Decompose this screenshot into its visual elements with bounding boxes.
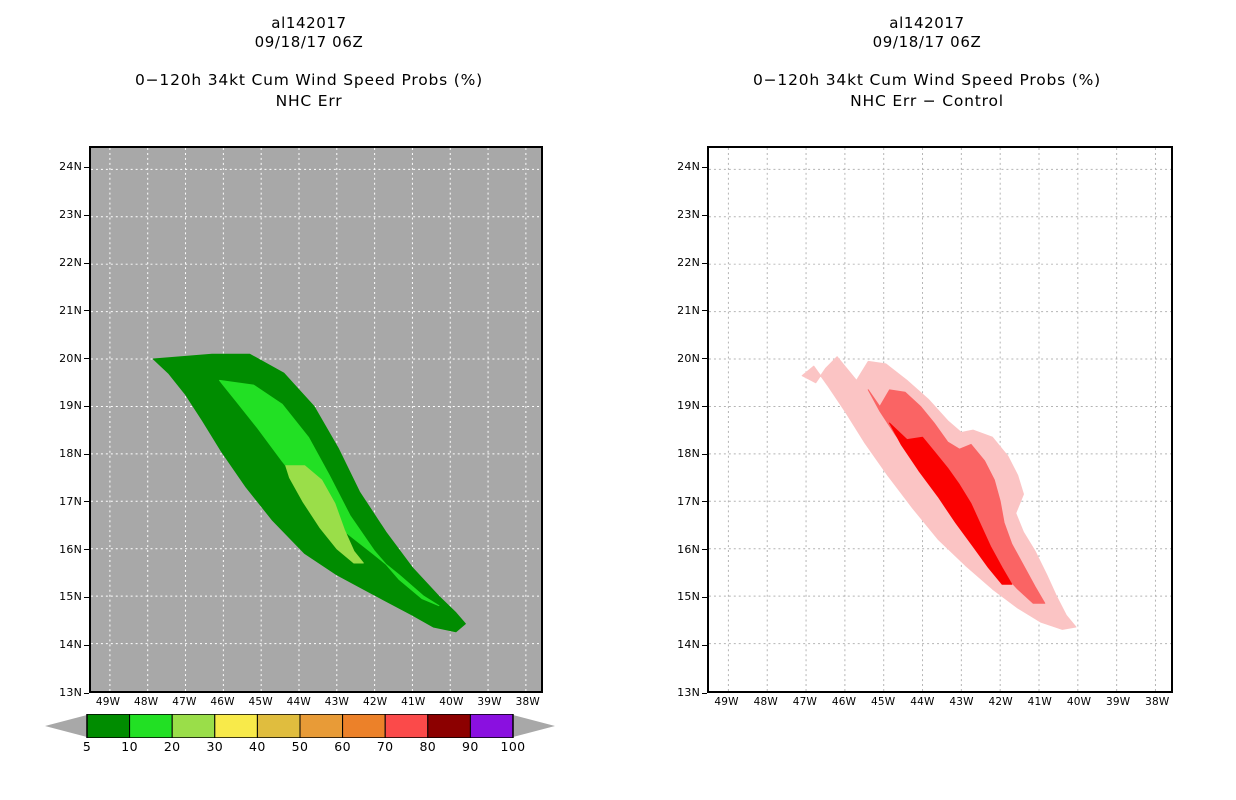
right-datetime: 09/18/17 06Z — [618, 33, 1236, 52]
colorbar-tick-80: 80 — [419, 739, 436, 754]
x-tick-47W: 47W — [785, 696, 825, 708]
panel-right: al142017 09/18/17 06Z 0−120h 34kt Cum Wi… — [618, 0, 1236, 800]
y-tick-17N: 17N — [59, 495, 89, 508]
y-tick-label: 19N — [677, 399, 700, 412]
x-tick-41W: 41W — [1020, 696, 1060, 708]
colorbar-tick-50: 50 — [292, 739, 309, 754]
y-tick-label: 20N — [677, 352, 700, 365]
y-tick-label: 18N — [677, 447, 700, 460]
panel-left: al142017 09/18/17 06Z 0−120h 34kt Cum Wi… — [0, 0, 618, 800]
y-tick-19N: 19N — [677, 399, 707, 412]
colorbar-tick-60: 60 — [334, 739, 351, 754]
y-tick-label: 16N — [59, 543, 82, 556]
left-storm-id: al142017 — [0, 14, 618, 33]
colorbar-tick-90: 90 — [462, 739, 479, 754]
colorbar-tick-100: 100 — [500, 739, 525, 754]
y-tick-label: 23N — [59, 208, 82, 221]
y-tick-label: 23N — [677, 208, 700, 221]
x-tick-39W: 39W — [470, 696, 510, 708]
y-tick-label: 14N — [59, 638, 82, 651]
x-tick-43W: 43W — [942, 696, 982, 708]
y-tick-17N: 17N — [677, 495, 707, 508]
colorbar-tick-10: 10 — [121, 739, 138, 754]
right-storm-id: al142017 — [618, 14, 1236, 33]
y-tick-label: 15N — [59, 590, 82, 603]
colorbar-tick-30: 30 — [206, 739, 223, 754]
left-colorbar-swatches — [45, 714, 555, 738]
y-tick-label: 21N — [677, 304, 700, 317]
x-tick-46W: 46W — [824, 696, 864, 708]
right-title-block: al142017 09/18/17 06Z 0−120h 34kt Cum Wi… — [618, 14, 1236, 111]
y-tick-23N: 23N — [59, 208, 89, 221]
left-plot-area[interactable] — [89, 146, 543, 693]
y-tick-21N: 21N — [59, 304, 89, 317]
y-tick-label: 24N — [59, 160, 82, 173]
y-tick-label: 22N — [59, 256, 82, 269]
left-chart-title: 0−120h 34kt Cum Wind Speed Probs (%) — [0, 69, 618, 91]
y-tick-23N: 23N — [677, 208, 707, 221]
y-tick-label: 20N — [59, 352, 82, 365]
colorbar-tick-5: 5 — [83, 739, 91, 754]
x-tick-44W: 44W — [279, 696, 319, 708]
colorbar-tick-20: 20 — [164, 739, 181, 754]
y-tick-label: 15N — [677, 590, 700, 603]
x-tick-38W: 38W — [508, 696, 548, 708]
y-tick-label: 24N — [677, 160, 700, 173]
y-tick-20N: 20N — [59, 352, 89, 365]
y-tick-18N: 18N — [59, 447, 89, 460]
y-tick-14N: 14N — [677, 638, 707, 651]
x-tick-48W: 48W — [126, 696, 166, 708]
x-tick-49W: 49W — [707, 696, 747, 708]
y-tick-label: 17N — [59, 495, 82, 508]
right-chart-title: 0−120h 34kt Cum Wind Speed Probs (%) — [618, 69, 1236, 91]
y-tick-24N: 24N — [677, 160, 707, 173]
right-y-axis-labels: 24N23N22N21N20N19N18N17N16N15N14N13N — [618, 0, 707, 800]
y-tick-label: 21N — [59, 304, 82, 317]
left-x-axis-labels: 49W48W47W46W45W44W43W42W41W40W39W38W — [0, 696, 618, 716]
y-tick-label: 16N — [677, 543, 700, 556]
x-tick-44W: 44W — [902, 696, 942, 708]
y-tick-15N: 15N — [59, 590, 89, 603]
left-chart-subtitle: NHC Err — [0, 91, 618, 111]
x-tick-43W: 43W — [317, 696, 357, 708]
x-tick-48W: 48W — [746, 696, 786, 708]
x-tick-42W: 42W — [981, 696, 1021, 708]
y-tick-16N: 16N — [677, 543, 707, 556]
y-tick-label: 18N — [59, 447, 82, 460]
x-tick-49W: 49W — [88, 696, 128, 708]
x-tick-45W: 45W — [863, 696, 903, 708]
y-tick-22N: 22N — [677, 256, 707, 269]
x-tick-47W: 47W — [164, 696, 204, 708]
y-tick-20N: 20N — [677, 352, 707, 365]
y-tick-24N: 24N — [59, 160, 89, 173]
y-tick-label: 17N — [677, 495, 700, 508]
left-datetime: 09/18/17 06Z — [0, 33, 618, 52]
colorbar-tick-40: 40 — [249, 739, 266, 754]
y-tick-label: 19N — [59, 399, 82, 412]
x-tick-42W: 42W — [355, 696, 395, 708]
y-tick-19N: 19N — [59, 399, 89, 412]
right-contour-field — [709, 148, 1171, 691]
colorbar-tick-70: 70 — [377, 739, 394, 754]
x-tick-41W: 41W — [393, 696, 433, 708]
left-y-axis-labels: 24N23N22N21N20N19N18N17N16N15N14N13N — [0, 0, 89, 800]
y-tick-label: 22N — [677, 256, 700, 269]
x-tick-38W: 38W — [1137, 696, 1177, 708]
y-tick-14N: 14N — [59, 638, 89, 651]
left-colorbar[interactable]: 5102030405060708090100 — [45, 714, 555, 774]
y-tick-18N: 18N — [677, 447, 707, 460]
right-plot-area[interactable] — [707, 146, 1173, 693]
y-tick-22N: 22N — [59, 256, 89, 269]
x-tick-39W: 39W — [1098, 696, 1138, 708]
x-tick-46W: 46W — [203, 696, 243, 708]
right-x-axis-labels: 49W48W47W46W45W44W43W42W41W40W39W38W — [618, 696, 1236, 716]
y-tick-16N: 16N — [59, 543, 89, 556]
x-tick-45W: 45W — [241, 696, 281, 708]
left-title-block: al142017 09/18/17 06Z 0−120h 34kt Cum Wi… — [0, 14, 618, 111]
y-tick-15N: 15N — [677, 590, 707, 603]
right-chart-subtitle: NHC Err − Control — [618, 91, 1236, 111]
y-tick-21N: 21N — [677, 304, 707, 317]
x-tick-40W: 40W — [431, 696, 471, 708]
left-contour-field — [91, 148, 541, 691]
x-tick-40W: 40W — [1059, 696, 1099, 708]
y-tick-label: 14N — [677, 638, 700, 651]
left-colorbar-ticklabels: 5102030405060708090100 — [45, 738, 555, 758]
